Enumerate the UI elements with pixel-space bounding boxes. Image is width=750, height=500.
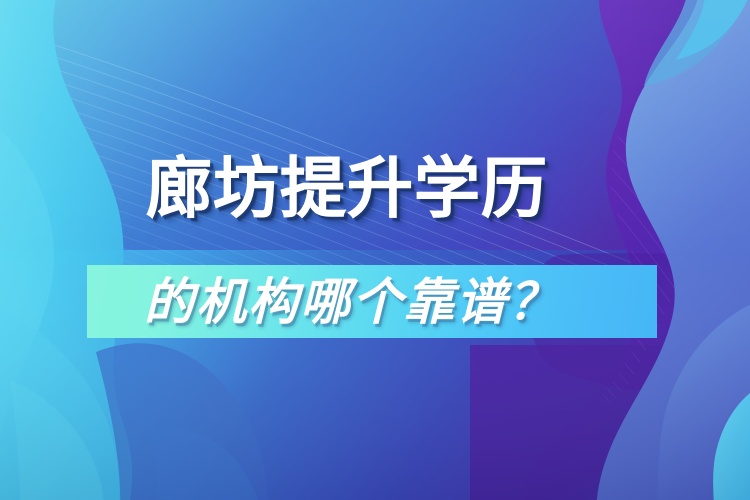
headline-primary: 廊坊提升学历 <box>146 155 548 221</box>
promo-banner: 廊坊提升学历 的机构哪个靠谱？ <box>0 0 750 500</box>
headline-secondary: 的机构哪个靠谱？ <box>144 268 664 336</box>
background-artwork <box>0 0 750 500</box>
